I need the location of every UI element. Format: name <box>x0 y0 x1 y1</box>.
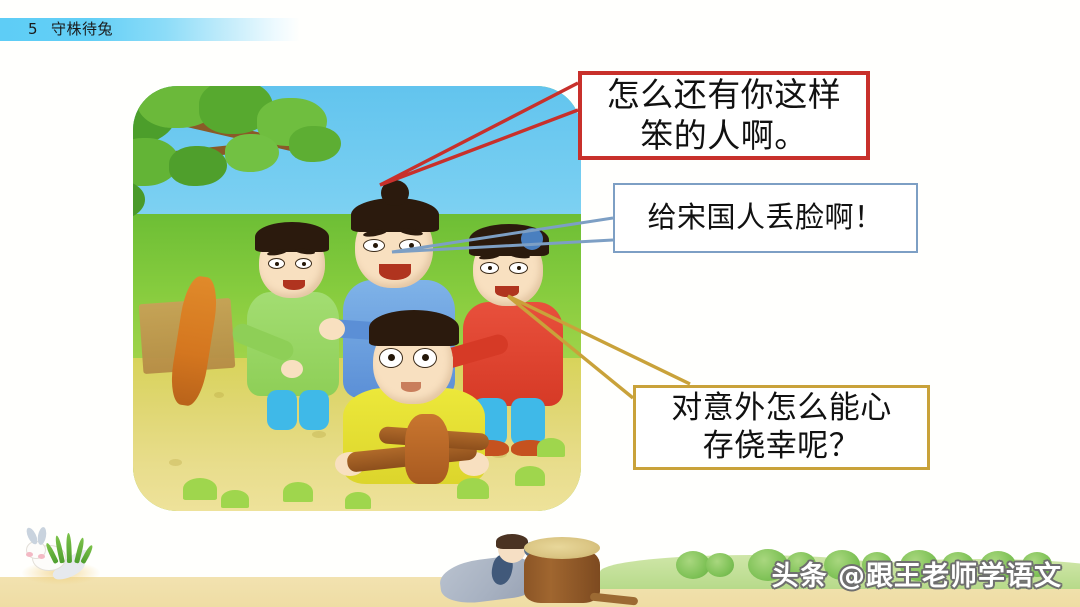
figure-top-bun <box>381 180 409 206</box>
slide-canvas: 5守株待兔 <box>0 0 1080 607</box>
grass-tuft-illustration <box>52 533 88 563</box>
photo-ground-leaf <box>537 438 565 457</box>
callout-blue-text: 给宋国人丢脸啊！ <box>647 200 883 235</box>
lesson-number: 5 <box>28 20 38 38</box>
man-resting-by-stump-illustration <box>440 515 690 607</box>
callout-box-blue[interactable]: 给宋国人丢脸啊！ <box>613 183 918 253</box>
figure-hair <box>369 310 459 346</box>
figure-leg <box>511 398 545 446</box>
watermark-text: 头条 @跟王老师学语文 <box>772 554 1062 593</box>
figure-pupil <box>373 243 378 248</box>
figure-pupil <box>409 243 414 248</box>
band-tree <box>706 553 734 577</box>
figure-hair <box>255 222 329 252</box>
figure-hand <box>281 360 303 378</box>
callout-box-red[interactable]: 怎么还有你这样 笨的人啊。 <box>578 71 870 160</box>
tree-leaf-cluster <box>169 146 227 186</box>
tree-stump-top <box>524 537 600 559</box>
figure-pupil <box>517 266 521 270</box>
photo-ground-leaf <box>345 492 371 509</box>
main-photo <box>133 86 581 511</box>
figure-mouth <box>495 286 519 297</box>
figure-mouth <box>379 264 411 280</box>
callout-red-text: 怎么还有你这样 笨的人啊。 <box>607 75 842 156</box>
photo-ground-leaf <box>283 482 313 502</box>
tree-leaf-cluster <box>133 180 145 220</box>
ground-speck <box>169 459 182 466</box>
tree-stump-root <box>590 593 639 606</box>
callout-gold-text: 对意外怎么能心 存侥幸呢？ <box>671 390 892 466</box>
callout-box-gold[interactable]: 对意外怎么能心 存侥幸呢？ <box>633 385 930 470</box>
photo-ground-leaf <box>515 466 545 486</box>
tree-leaf-cluster <box>225 134 279 172</box>
figure-headband <box>521 228 543 250</box>
rabbit-cheek <box>26 552 33 557</box>
figure-mouth <box>283 280 305 290</box>
figure-pupil <box>388 354 395 361</box>
man-robe <box>438 554 534 607</box>
figure-pupil <box>422 354 429 361</box>
figure-pupil <box>488 266 492 270</box>
figure-leg <box>299 390 329 430</box>
ground-speck <box>214 392 224 398</box>
photo-ground-leaf <box>221 490 249 508</box>
figure-pupil <box>302 262 306 266</box>
figure-pupil <box>275 262 279 266</box>
tree-leaf-cluster <box>289 126 341 162</box>
rabbit-cheek <box>38 554 45 559</box>
page-title: 5守株待兔 <box>28 18 113 41</box>
figure-leg <box>267 390 297 430</box>
photo-log-stump <box>405 414 449 484</box>
figure-mouth <box>401 382 421 392</box>
grass-blade <box>66 533 72 563</box>
photo-ground-leaf <box>183 478 217 500</box>
photo-ground-leaf <box>457 478 489 499</box>
lesson-title: 守株待兔 <box>51 20 113 38</box>
